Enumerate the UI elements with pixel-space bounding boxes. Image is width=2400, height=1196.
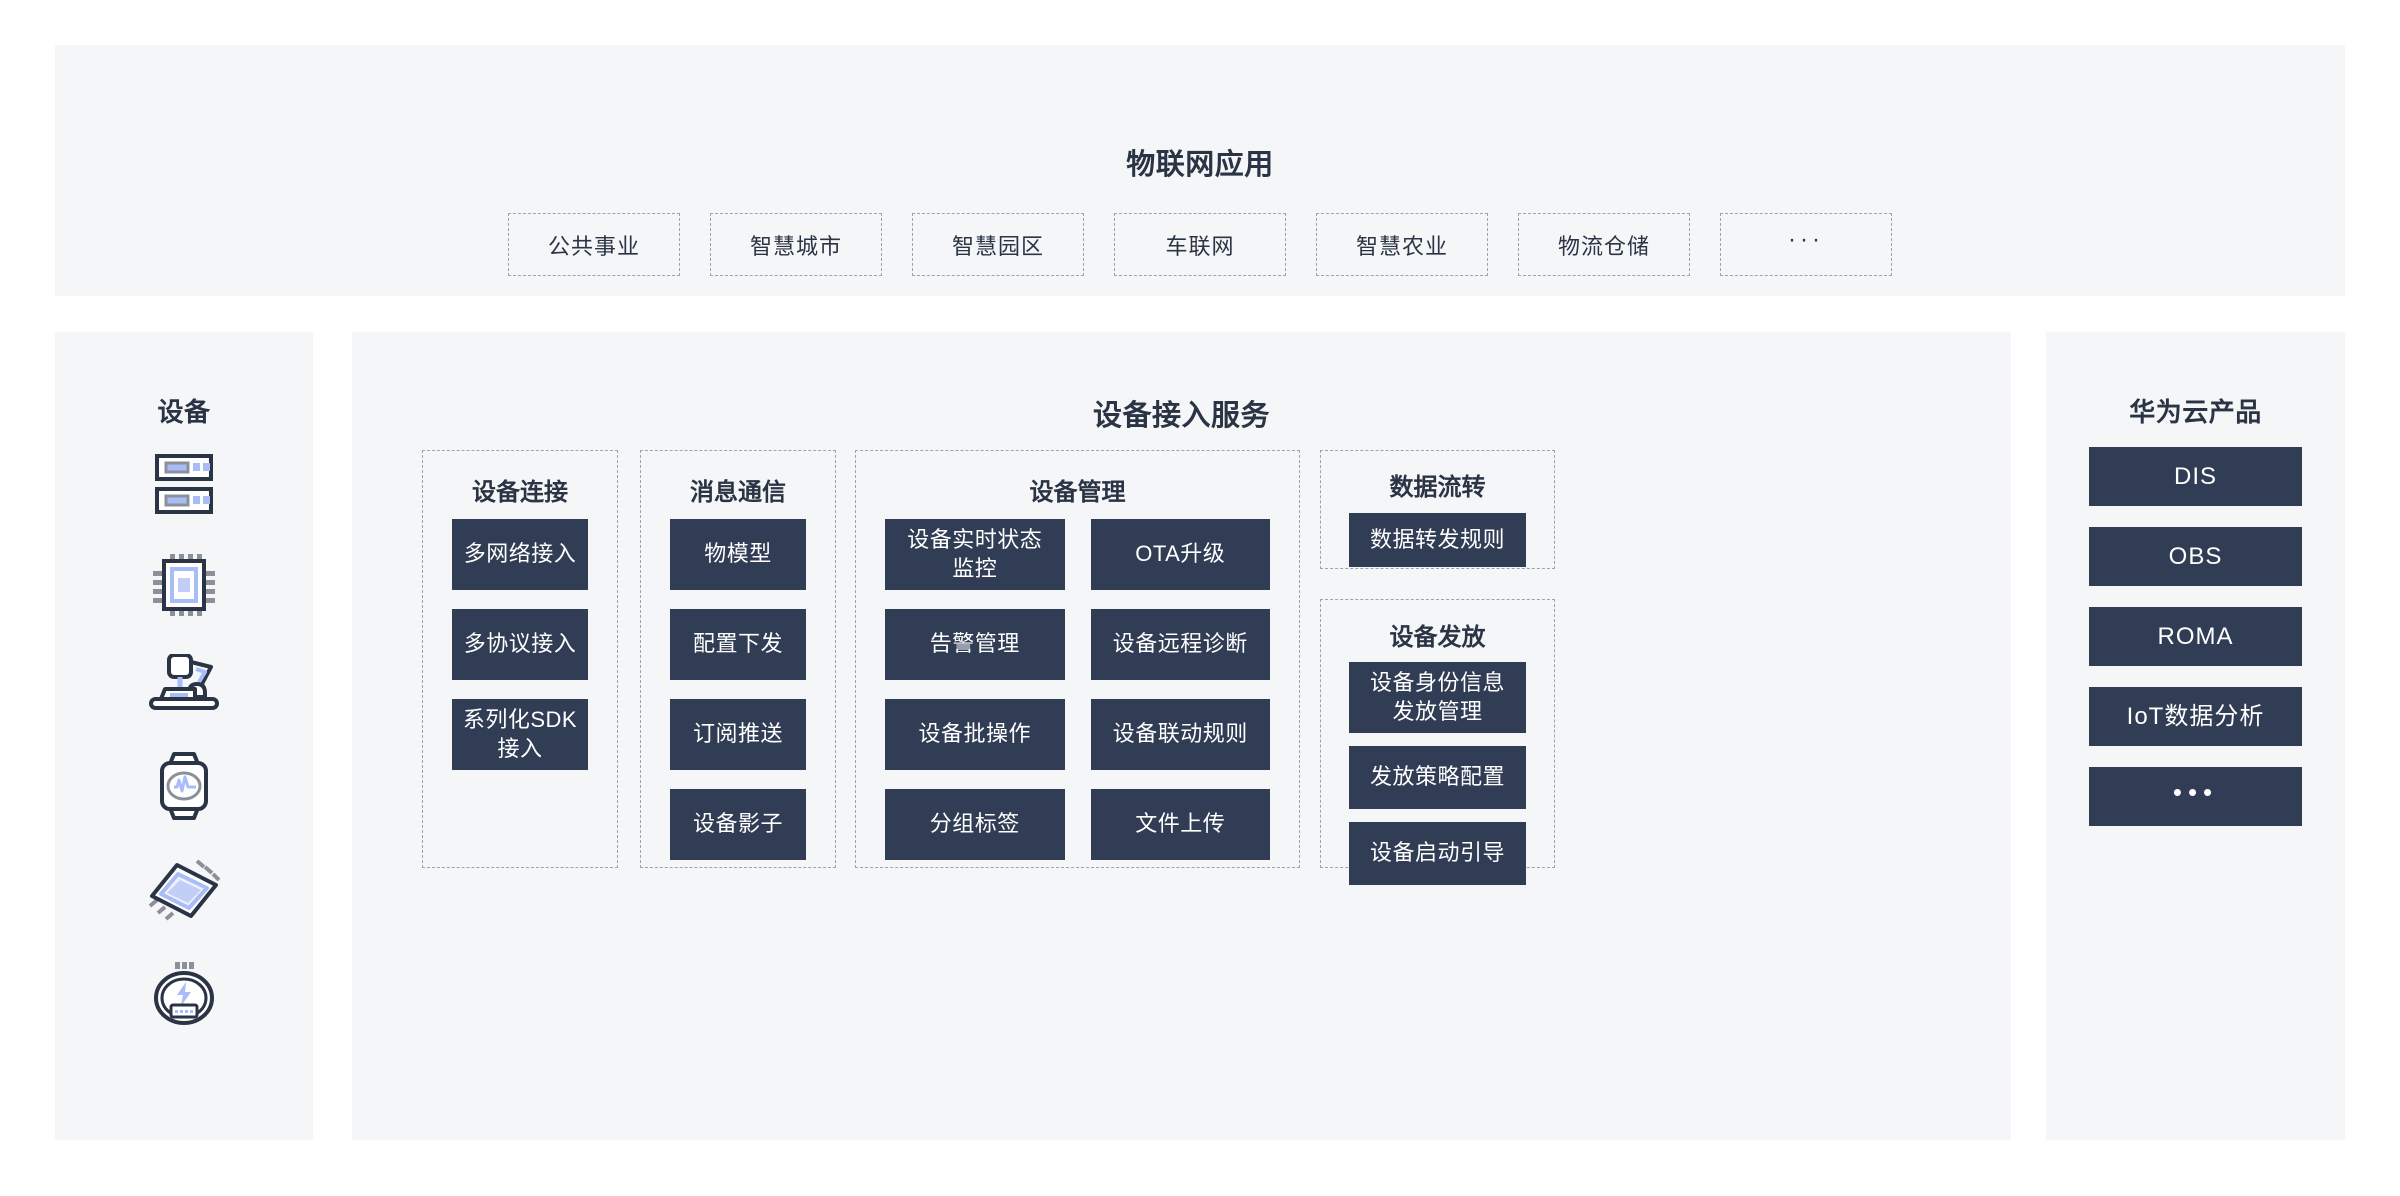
smartwatch-icon bbox=[156, 752, 212, 820]
application-card-smart-agriculture[interactable]: 智慧农业 bbox=[1316, 213, 1488, 276]
server-stack-icon bbox=[155, 454, 213, 516]
cloud-product-roma[interactable]: ROMA bbox=[2089, 607, 2302, 666]
group-device-connection-title: 设备连接 bbox=[423, 472, 617, 507]
tile-batch-operation[interactable]: 设备批操作 bbox=[885, 699, 1065, 770]
tile-multi-network-access[interactable]: 多网络接入 bbox=[452, 519, 588, 590]
group-device-provisioning: 设备发放 设备身份信息发放管理 发放策略配置 设备启动引导 bbox=[1320, 599, 1555, 868]
device-access-service-title: 设备接入服务 bbox=[352, 392, 2011, 434]
tile-alarm-management[interactable]: 告警管理 bbox=[885, 609, 1065, 680]
group-device-management-title: 设备管理 bbox=[856, 472, 1299, 507]
tile-realtime-status-monitoring[interactable]: 设备实时状态监控 bbox=[885, 519, 1065, 590]
application-card-public-utility[interactable]: 公共事业 bbox=[508, 213, 680, 276]
devices-rail: 设备 bbox=[55, 332, 313, 1140]
device-access-service-panel: 设备接入服务 设备连接 多网络接入 多协议接入 系列化SDK接入 消息通信 物模… bbox=[352, 332, 2011, 1140]
application-card-smart-park[interactable]: 智慧园区 bbox=[912, 213, 1084, 276]
tile-device-shadow[interactable]: 设备影子 bbox=[670, 789, 806, 860]
application-card-smart-city[interactable]: 智慧城市 bbox=[710, 213, 882, 276]
tile-multi-protocol-access[interactable]: 多协议接入 bbox=[452, 609, 588, 680]
iot-applications-band: 物联网应用 公共事业 智慧城市 智慧园区 车联网 智慧农业 物流仓储 ··· bbox=[55, 45, 2345, 296]
tile-data-forwarding-rule[interactable]: 数据转发规则 bbox=[1349, 513, 1526, 567]
tile-group-tag[interactable]: 分组标签 bbox=[885, 789, 1065, 860]
tile-remote-diagnosis[interactable]: 设备远程诊断 bbox=[1091, 609, 1271, 680]
cloud-product-more[interactable]: ••• bbox=[2089, 767, 2302, 826]
cloud-product-iot-analytics[interactable]: IoT数据分析 bbox=[2089, 687, 2302, 746]
group-device-connection: 设备连接 多网络接入 多协议接入 系列化SDK接入 bbox=[422, 450, 618, 868]
group-device-connection-tiles: 多网络接入 多协议接入 系列化SDK接入 bbox=[423, 519, 617, 770]
tile-ota-upgrade[interactable]: OTA升级 bbox=[1091, 519, 1271, 590]
huawei-cloud-products-list: DIS OBS ROMA IoT数据分析 ••• bbox=[2046, 447, 2345, 826]
isometric-chip-icon bbox=[147, 858, 221, 924]
huawei-cloud-products-title: 华为云产品 bbox=[2046, 392, 2345, 429]
tile-provisioning-policy-config[interactable]: 发放策略配置 bbox=[1349, 746, 1526, 809]
tile-device-linkage-rule[interactable]: 设备联动规则 bbox=[1091, 699, 1271, 770]
group-device-provisioning-tiles: 设备身份信息发放管理 发放策略配置 设备启动引导 bbox=[1321, 662, 1554, 885]
chip-icon bbox=[153, 554, 215, 616]
group-message-communication-title: 消息通信 bbox=[641, 472, 835, 507]
tile-thing-model[interactable]: 物模型 bbox=[670, 519, 806, 590]
application-card-logistics-warehouse[interactable]: 物流仓储 bbox=[1518, 213, 1690, 276]
tile-device-bootstrap[interactable]: 设备启动引导 bbox=[1349, 822, 1526, 885]
tile-subscription-push[interactable]: 订阅推送 bbox=[670, 699, 806, 770]
iot-applications-card-list: 公共事业 智慧城市 智慧园区 车联网 智慧农业 物流仓储 ··· bbox=[55, 213, 2345, 276]
application-card-connected-vehicle[interactable]: 车联网 bbox=[1114, 213, 1286, 276]
group-message-communication-tiles: 物模型 配置下发 订阅推送 设备影子 bbox=[641, 519, 835, 879]
group-message-communication: 消息通信 物模型 配置下发 订阅推送 设备影子 bbox=[640, 450, 836, 868]
architecture-diagram: 物联网应用 公共事业 智慧城市 智慧园区 车联网 智慧农业 物流仓储 ··· 设… bbox=[0, 0, 2400, 1196]
industrial-robot-arm-icon bbox=[149, 654, 219, 714]
group-data-flow: 数据流转 数据转发规则 bbox=[1320, 450, 1555, 569]
iot-applications-title: 物联网应用 bbox=[55, 141, 2345, 183]
power-meter-icon bbox=[153, 962, 215, 1026]
group-device-management-tiles: 设备实时状态监控 OTA升级 告警管理 设备远程诊断 设备批操作 设备联动规则 … bbox=[856, 519, 1299, 860]
huawei-cloud-products-rail: 华为云产品 DIS OBS ROMA IoT数据分析 ••• bbox=[2046, 332, 2345, 1140]
group-data-flow-title: 数据流转 bbox=[1321, 467, 1554, 502]
tile-file-upload[interactable]: 文件上传 bbox=[1091, 789, 1271, 860]
cloud-product-obs[interactable]: OBS bbox=[2089, 527, 2302, 586]
device-icon-list bbox=[55, 454, 313, 1026]
tile-sdk-series-access[interactable]: 系列化SDK接入 bbox=[452, 699, 588, 770]
application-card-more[interactable]: ··· bbox=[1720, 213, 1892, 276]
tile-identity-provisioning-management[interactable]: 设备身份信息发放管理 bbox=[1349, 662, 1526, 733]
cloud-product-dis[interactable]: DIS bbox=[2089, 447, 2302, 506]
devices-title: 设备 bbox=[55, 392, 313, 429]
group-device-management: 设备管理 设备实时状态监控 OTA升级 告警管理 设备远程诊断 设备批操作 设备… bbox=[855, 450, 1300, 868]
group-device-provisioning-title: 设备发放 bbox=[1321, 617, 1554, 652]
group-data-flow-tiles: 数据转发规则 bbox=[1321, 513, 1554, 567]
tile-config-delivery[interactable]: 配置下发 bbox=[670, 609, 806, 680]
